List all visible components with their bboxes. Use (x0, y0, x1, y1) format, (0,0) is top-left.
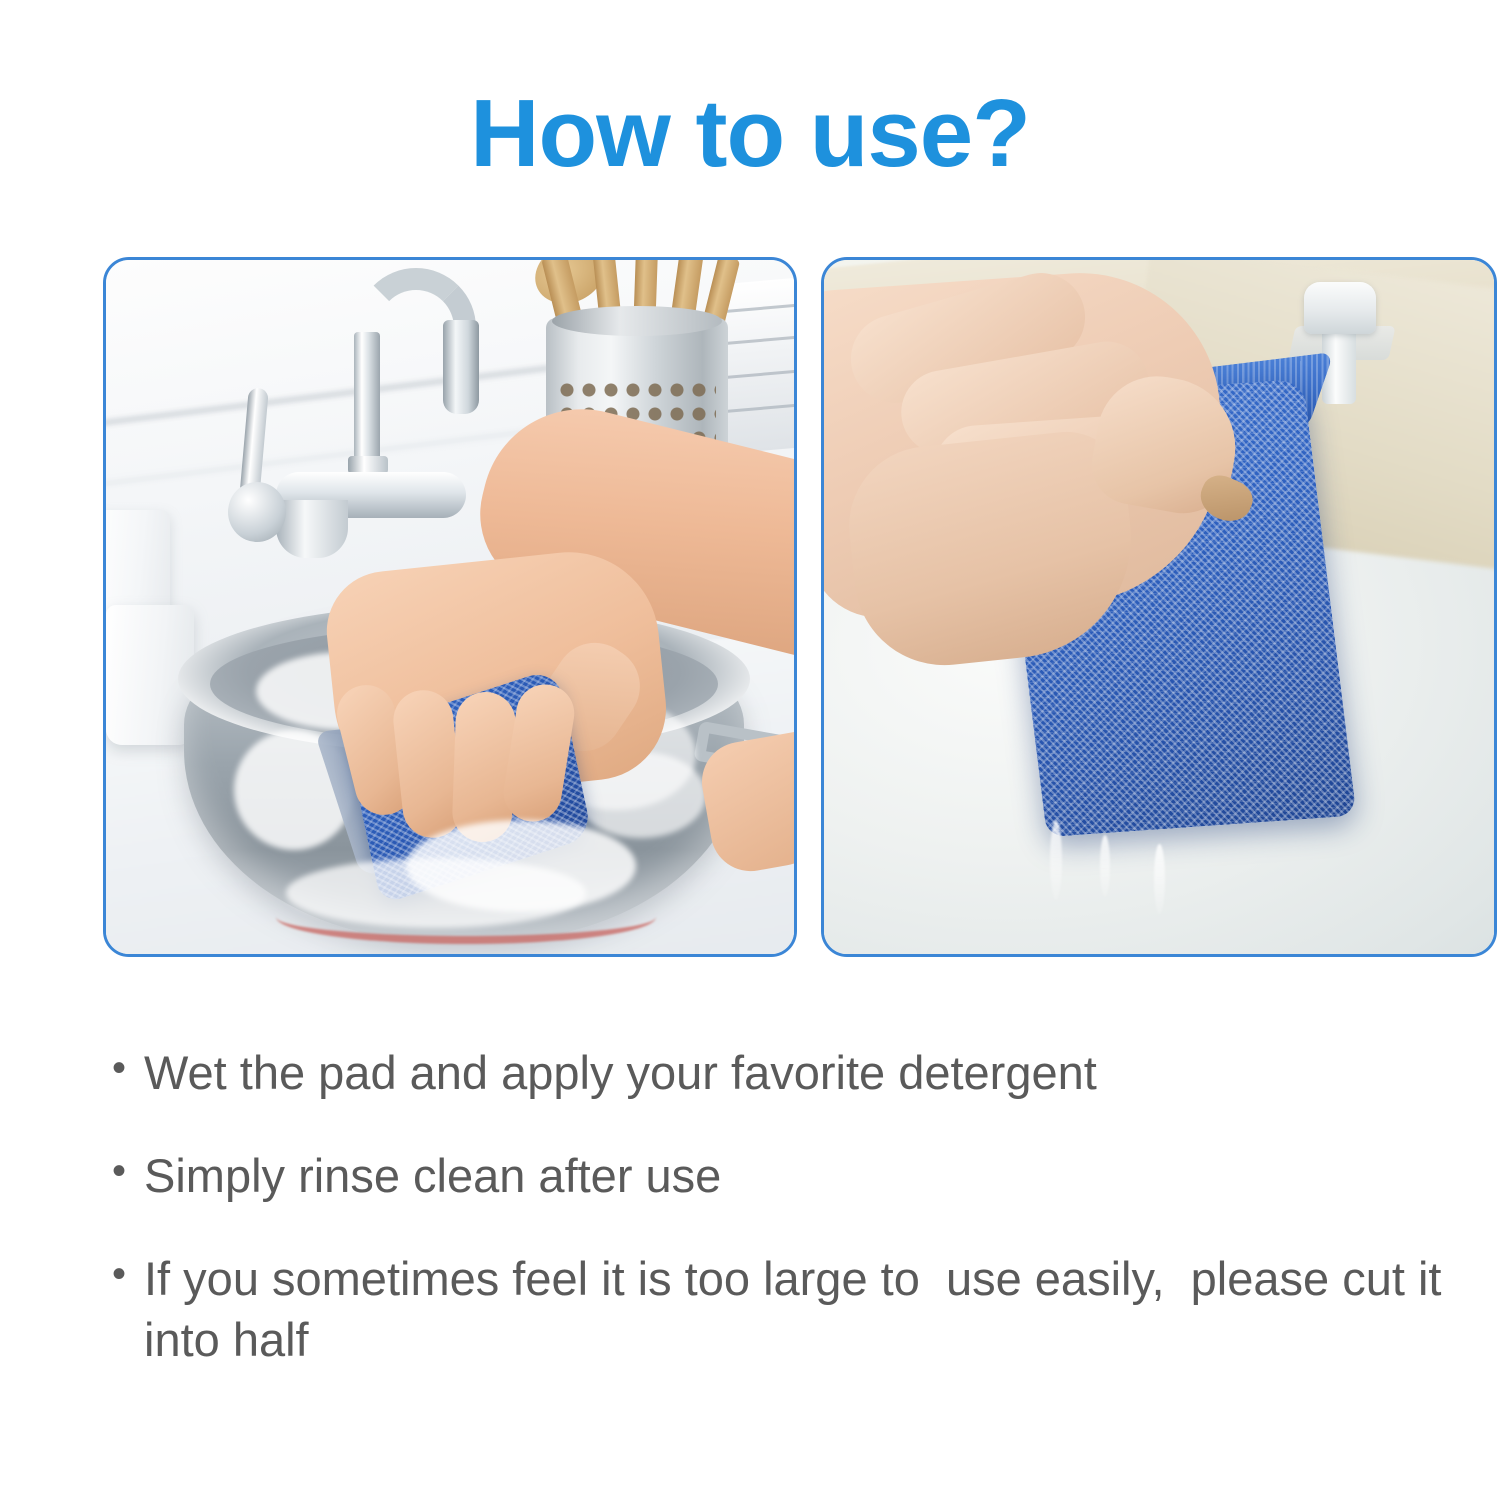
instructions-list: • Wet the pad and apply your favorite de… (112, 1042, 1452, 1412)
faucet-base (276, 500, 348, 558)
instruction-text: Simply rinse clean after use (144, 1145, 1452, 1206)
list-item: • Simply rinse clean after use (112, 1145, 1452, 1206)
photo-panel-washing-pot (103, 257, 797, 957)
bullet-icon: • (112, 1042, 144, 1094)
water-drip (1050, 820, 1062, 900)
soap-suds (286, 858, 586, 928)
instruction-text: Wet the pad and apply your favorite dete… (144, 1042, 1452, 1103)
bullet-icon: • (112, 1248, 144, 1300)
photo-holding-sponge (824, 260, 1494, 954)
how-to-use-page: How to use? (0, 0, 1500, 1500)
faucet-knob (228, 482, 286, 542)
photo-panel-holding-sponge (821, 257, 1497, 957)
tap-head-icon (1304, 282, 1376, 334)
list-item: • If you sometimes feel it is too large … (112, 1248, 1452, 1370)
faucet-tip (443, 320, 479, 414)
bullet-icon: • (112, 1145, 144, 1197)
water-drip (1100, 835, 1110, 897)
page-title: How to use? (0, 86, 1500, 182)
water-drip (1154, 844, 1165, 914)
photo-washing-pot (106, 260, 794, 954)
list-item: • Wet the pad and apply your favorite de… (112, 1042, 1452, 1103)
instruction-text: If you sometimes feel it is too large to… (144, 1248, 1452, 1370)
photo-panels (103, 257, 1497, 957)
